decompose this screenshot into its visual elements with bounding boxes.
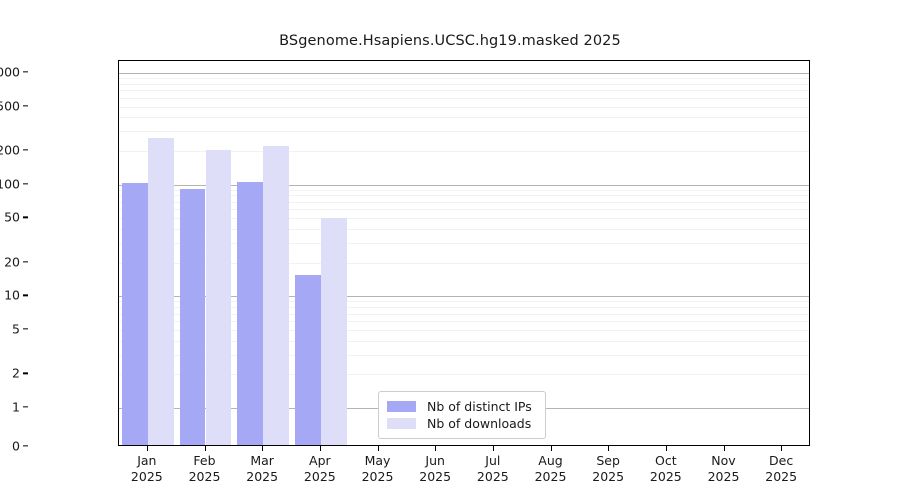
bar xyxy=(295,275,321,445)
gridline xyxy=(119,78,809,79)
x-axis-tick-label: Jul2025 xyxy=(477,453,509,484)
legend-swatch-downloads xyxy=(387,418,416,429)
x-axis-tick-month: Feb xyxy=(189,453,221,469)
y-axis-tick-label: 1000 xyxy=(0,65,20,80)
x-axis-tick-label: May2025 xyxy=(362,453,394,484)
x-axis-tick-label: Mar2025 xyxy=(246,453,278,484)
plot-area xyxy=(118,60,810,446)
y-axis-tick-mark xyxy=(23,295,28,296)
y-axis-tick-label: 100 xyxy=(0,176,20,191)
x-axis-tick-month: Dec xyxy=(765,453,797,469)
y-axis-tick-label: 200 xyxy=(0,143,20,158)
x-axis-tick-month: Jan xyxy=(131,453,163,469)
x-axis-tick-month: Apr xyxy=(304,453,336,469)
y-axis-tick-label: 20 xyxy=(4,254,20,269)
x-axis-tick-label: Aug2025 xyxy=(535,453,567,484)
y-axis-tick-label: 500 xyxy=(0,98,20,113)
y-axis-tick-mark xyxy=(23,328,28,329)
x-axis-tick-month: Mar xyxy=(246,453,278,469)
chart-title: BSgenome.Hsapiens.UCSC.hg19.masked 2025 xyxy=(0,33,900,49)
y-axis-tick-label: 10 xyxy=(4,288,20,303)
x-axis-tick-month: Nov xyxy=(708,453,740,469)
x-axis-tick-year: 2025 xyxy=(765,469,797,485)
x-axis-tick-year: 2025 xyxy=(304,469,336,485)
x-axis-tick-year: 2025 xyxy=(362,469,394,485)
x-axis-tick-label: Nov2025 xyxy=(708,453,740,484)
x-axis-tick-year: 2025 xyxy=(708,469,740,485)
x-axis-tick-mark xyxy=(378,446,379,451)
x-axis-tick-mark xyxy=(724,446,725,451)
bar xyxy=(237,182,263,445)
gridline xyxy=(119,73,809,74)
y-axis-tick-label: 0 xyxy=(12,439,20,454)
y-axis-tick-mark xyxy=(23,217,28,218)
bar xyxy=(180,189,206,445)
y-axis-tick-mark xyxy=(23,149,28,150)
gridline xyxy=(119,131,809,132)
x-axis-tick-year: 2025 xyxy=(592,469,624,485)
x-axis-tick-year: 2025 xyxy=(419,469,451,485)
x-axis-tick-mark xyxy=(435,446,436,451)
x-axis-tick-year: 2025 xyxy=(246,469,278,485)
x-axis-tick-mark xyxy=(147,446,148,451)
x-axis-tick-month: Oct xyxy=(650,453,682,469)
x-axis-tick-month: Jul xyxy=(477,453,509,469)
x-axis-tick-mark xyxy=(551,446,552,451)
chart-legend: Nb of distinct IPs Nb of downloads xyxy=(378,391,546,439)
gridline xyxy=(119,90,809,91)
y-axis-tick-mark xyxy=(23,71,28,72)
y-axis-tick-mark xyxy=(23,445,28,446)
x-axis-tick-label: Sep2025 xyxy=(592,453,624,484)
gridline xyxy=(119,107,809,108)
y-axis-tick-mark xyxy=(23,373,28,374)
bar xyxy=(321,218,347,445)
x-axis-tick-year: 2025 xyxy=(131,469,163,485)
x-axis-tick-label: Dec2025 xyxy=(765,453,797,484)
legend-item-distinct-ips[interactable]: Nb of distinct IPs xyxy=(387,398,537,415)
x-axis-tick-mark xyxy=(666,446,667,451)
y-axis-tick-label: 5 xyxy=(12,321,20,336)
x-axis-tick-label: Jun2025 xyxy=(419,453,451,484)
x-axis-tick-mark xyxy=(781,446,782,451)
y-axis-tick-mark xyxy=(23,183,28,184)
y-axis-tick-label: 50 xyxy=(4,210,20,225)
x-axis-tick-mark xyxy=(493,446,494,451)
x-axis-tick-month: Aug xyxy=(535,453,567,469)
x-axis-tick-mark xyxy=(205,446,206,451)
y-axis-tick-mark xyxy=(23,105,28,106)
chart-figure: BSgenome.Hsapiens.UCSC.hg19.masked 2025 … xyxy=(0,0,900,500)
x-axis-tick-label: Apr2025 xyxy=(304,453,336,484)
x-axis-tick-label: Jan2025 xyxy=(131,453,163,484)
x-axis-tick-label: Oct2025 xyxy=(650,453,682,484)
gridline xyxy=(119,117,809,118)
gridline xyxy=(119,98,809,99)
x-axis-tick-month: Jun xyxy=(419,453,451,469)
legend-item-downloads[interactable]: Nb of downloads xyxy=(387,415,537,432)
bar xyxy=(148,138,174,445)
x-axis-tick-month: Sep xyxy=(592,453,624,469)
x-axis-tick-mark xyxy=(608,446,609,451)
legend-label-downloads: Nb of downloads xyxy=(427,416,531,431)
legend-swatch-distinct-ips xyxy=(387,401,416,412)
x-axis-tick-mark xyxy=(320,446,321,451)
x-axis-tick-year: 2025 xyxy=(477,469,509,485)
x-axis-tick-year: 2025 xyxy=(189,469,221,485)
y-axis-tick-label: 2 xyxy=(12,366,20,381)
x-axis-tick-label: Feb2025 xyxy=(189,453,221,484)
y-axis-tick-mark xyxy=(23,406,28,407)
x-axis-tick-mark xyxy=(262,446,263,451)
x-axis-tick-year: 2025 xyxy=(650,469,682,485)
bar xyxy=(206,150,232,445)
y-axis: 10005002001005020105210 xyxy=(0,0,118,500)
bar xyxy=(263,146,289,445)
x-axis-tick-year: 2025 xyxy=(535,469,567,485)
x-axis-tick-month: May xyxy=(362,453,394,469)
y-axis-tick-label: 1 xyxy=(12,400,20,415)
bar xyxy=(122,183,148,445)
legend-label-distinct-ips: Nb of distinct IPs xyxy=(427,399,532,414)
y-axis-tick-mark xyxy=(23,261,28,262)
gridline xyxy=(119,84,809,85)
